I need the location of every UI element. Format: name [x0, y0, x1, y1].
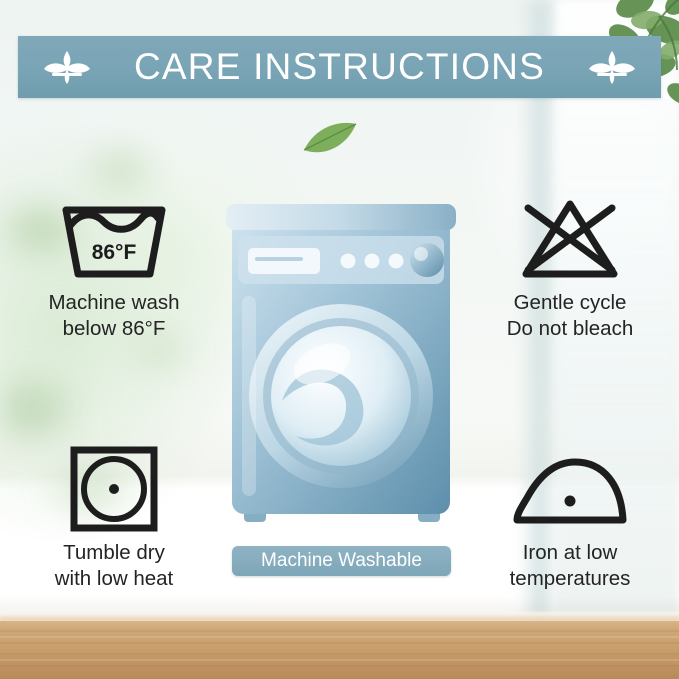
machine-washable-badge: Machine Washable: [232, 546, 451, 576]
tumble-dry-low-icon: [14, 446, 214, 532]
care-item-dry-label: Tumble dry with low heat: [14, 540, 214, 592]
care-item-iron: Iron at low temperatures: [470, 446, 670, 592]
care-item-cycle-label: Gentle cycle Do not bleach: [470, 290, 670, 342]
care-instructions-infographic: CARE INSTRUCTIONS: [0, 0, 679, 679]
table-edge-highlight: [0, 612, 679, 621]
fleur-de-lis-ornament-right-icon: [585, 47, 639, 87]
flying-leaf: [300, 120, 360, 160]
care-item-wash-label: Machine wash below 86°F: [14, 290, 214, 342]
fleur-de-lis-ornament-left-icon: [40, 47, 94, 87]
wash-temperature-text: 86°F: [92, 241, 137, 264]
wooden-table-surface: [0, 621, 679, 679]
iron-low-temperature-icon: [470, 446, 670, 532]
header-banner: CARE INSTRUCTIONS: [18, 36, 661, 98]
care-item-cycle: Gentle cycle Do not bleach: [470, 196, 670, 342]
no-bleach-triangle-icon: [470, 196, 670, 282]
care-item-dry: Tumble dry with low heat: [14, 446, 214, 592]
page-title: CARE INSTRUCTIONS: [134, 46, 545, 88]
machine-washable-badge-label: Machine Washable: [261, 550, 422, 572]
washing-machine-illustration: [222, 196, 460, 532]
care-item-wash: 86°F Machine wash below 86°F: [14, 196, 214, 342]
care-item-iron-label: Iron at low temperatures: [470, 540, 670, 592]
wash-tub-icon: 86°F: [14, 196, 214, 282]
